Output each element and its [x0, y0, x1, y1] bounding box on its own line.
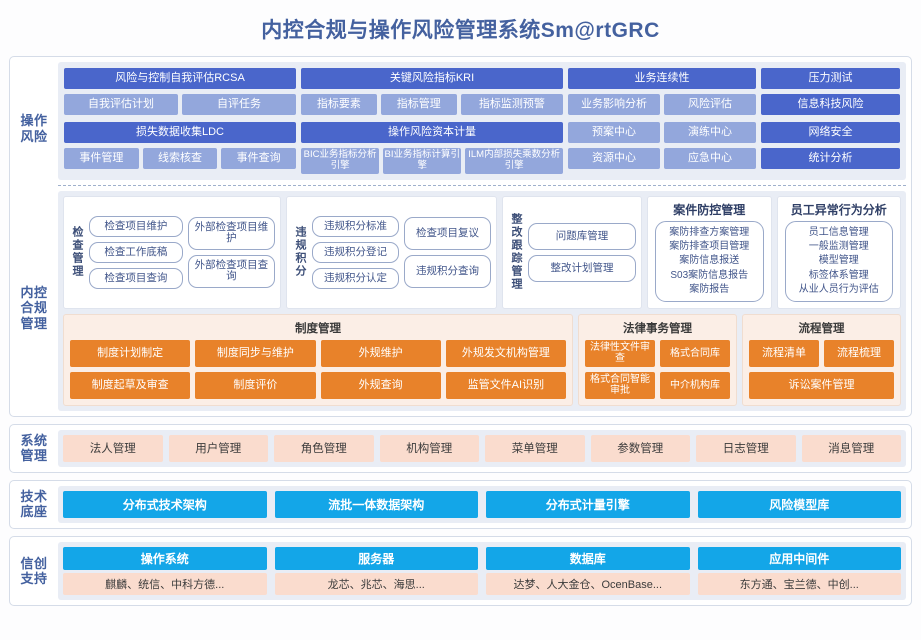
btn-parameter-management[interactable]: 参数管理: [591, 435, 691, 462]
panel-legal-affairs: 法律事务管理 法律性文件审查 格式合同库 格式合同智能审批 中介机构库: [578, 314, 737, 406]
module-self-assessment-task[interactable]: 自评任务: [182, 94, 296, 115]
pill-inspection-item-query[interactable]: 检查项目查询: [89, 268, 183, 289]
module-drill-center[interactable]: 演练中心: [664, 122, 756, 143]
module-ilm-engine[interactable]: ILM内部损失乘数分析引擎: [465, 148, 563, 174]
label-middleware-vendors: 东方通、宝兰德、中创...: [698, 573, 902, 595]
label-line-2: 底座: [20, 504, 47, 519]
btn-user-management[interactable]: 用户管理: [169, 435, 269, 462]
module-op-risk-capital[interactable]: 操作风险资本计量: [301, 122, 563, 143]
panel-vertical-label: 违规积分: [292, 202, 307, 303]
label-line-2: 风险: [20, 129, 47, 144]
btn-policy-evaluation[interactable]: 制度评价: [195, 372, 315, 399]
btn-litigation-case-management[interactable]: 诉讼案件管理: [749, 372, 894, 399]
pill-external-inspection-maintenance[interactable]: 外部检查项目维护: [188, 217, 275, 250]
xinchuang-column-middleware: 应用中间件 东方通、宝兰德、中创...: [698, 547, 902, 595]
module-stress-test[interactable]: 压力测试: [761, 68, 900, 89]
pill-rectification-plan-management[interactable]: 整改计划管理: [528, 255, 636, 282]
band-label-xinchuang: 信创 支持: [10, 537, 58, 605]
module-rcsa[interactable]: 风险与控制自我评估RCSA: [64, 68, 296, 89]
label-line-1: 信创: [20, 556, 47, 571]
band-label-column: 操作 风险 内控 合规 管理: [10, 57, 58, 416]
pill-violation-point-standard[interactable]: 违规积分标准: [312, 216, 399, 237]
band-body: 法人管理 用户管理 角色管理 机构管理 菜单管理 参数管理 日志管理 消息管理: [58, 430, 906, 467]
label-database-vendors: 达梦、人大金仓、OcenBase...: [486, 573, 690, 595]
band-label-internal-control: 内控 合规 管理: [10, 200, 58, 416]
or-column-1: 风险与控制自我评估RCSA 自我评估计划 自评任务 损失数据收集LDC 事件管理…: [64, 68, 296, 174]
btn-log-management[interactable]: 日志管理: [696, 435, 796, 462]
label-line-3: 管理: [20, 316, 47, 331]
btn-process-list[interactable]: 流程清单: [749, 340, 819, 367]
module-statistical-analysis[interactable]: 统计分析: [761, 148, 900, 169]
band-body: 操作系统 麒麟、统信、中科方德... 服务器 龙芯、兆芯、海思... 数据库 达…: [58, 542, 906, 600]
btn-policy-plan-formulation[interactable]: 制度计划制定: [70, 340, 190, 367]
panel-institution-management: 制度管理 制度计划制定 制度同步与维护 外规维护 外规发文机构管理 制度起草及审…: [63, 314, 573, 406]
section-divider: [58, 185, 906, 186]
list-item[interactable]: 员工信息管理: [792, 226, 887, 240]
band-body: 分布式技术架构 流批一体数据架构 分布式计量引擎 风险模型库: [58, 486, 906, 523]
band-body: 风险与控制自我评估RCSA 自我评估计划 自评任务 损失数据收集LDC 事件管理…: [58, 57, 911, 416]
btn-standard-contract-ai-approval[interactable]: 格式合同智能审批: [585, 372, 655, 399]
module-it-risk[interactable]: 信息科技风险: [761, 94, 900, 115]
btn-external-issuing-org-management[interactable]: 外规发文机构管理: [446, 340, 566, 367]
btn-operating-system[interactable]: 操作系统: [63, 547, 267, 570]
list-item[interactable]: 一般监测管理: [792, 240, 887, 254]
pill-inspection-item-review[interactable]: 检查项目复议: [404, 217, 491, 250]
pill-violation-point-registration[interactable]: 违规积分登记: [312, 242, 399, 263]
list-item[interactable]: 案防信息报送: [662, 254, 757, 268]
module-resource-center[interactable]: 资源中心: [568, 148, 660, 169]
panel-inspection-management: 检查管理 检查项目维护 检查工作底稿 检查项目查询 外部检查项目维护 外部检查项…: [63, 196, 281, 309]
pill-inspection-working-paper[interactable]: 检查工作底稿: [89, 242, 183, 263]
or-column-3: 业务连续性 业务影响分析 风险评估 预案中心 演练中心 资源中心 应急中心: [568, 68, 756, 174]
btn-standard-contract-library[interactable]: 格式合同库: [660, 340, 730, 367]
btn-intermediary-org-library[interactable]: 中介机构库: [660, 372, 730, 399]
panel-title: 员工异常行为分析: [778, 197, 901, 221]
module-plan-center[interactable]: 预案中心: [568, 122, 660, 143]
btn-message-management[interactable]: 消息管理: [802, 435, 902, 462]
btn-stream-batch-data-architecture[interactable]: 流批一体数据架构: [275, 491, 479, 518]
btn-risk-model-library[interactable]: 风险模型库: [698, 491, 902, 518]
label-line-2: 管理: [20, 448, 47, 463]
list-item[interactable]: 标签体系管理: [792, 269, 887, 283]
panel-rectification-tracking: 整改跟踪管理 问题库管理 整改计划管理: [502, 196, 642, 309]
panel-vertical-label: 整改跟踪管理: [508, 202, 523, 303]
btn-external-rule-maintenance[interactable]: 外规维护: [321, 340, 441, 367]
pill-external-inspection-query[interactable]: 外部检查项目查询: [188, 255, 275, 288]
list-item[interactable]: S03案防信息报告: [662, 269, 757, 283]
label-line-1: 系统: [20, 433, 47, 448]
or-column-4: 压力测试 信息科技风险 网络安全 统计分析: [761, 68, 900, 174]
list-staff-items[interactable]: 员工信息管理 一般监测管理 模型管理 标签体系管理 从业人员行为评估: [785, 221, 894, 302]
btn-menu-management[interactable]: 菜单管理: [485, 435, 585, 462]
label-line-1: 内控: [20, 285, 47, 300]
btn-policy-drafting-review[interactable]: 制度起草及审查: [70, 372, 190, 399]
btn-org-management[interactable]: 机构管理: [380, 435, 480, 462]
list-item[interactable]: 案防排查方案管理: [662, 226, 757, 240]
module-kri[interactable]: 关键风险指标KRI: [301, 68, 563, 89]
list-item[interactable]: 案防排查项目管理: [662, 240, 757, 254]
module-event-management[interactable]: 事件管理: [64, 148, 139, 169]
module-bi-engine[interactable]: BI业务指标计算引擎: [383, 148, 461, 174]
panel-title: 流程管理: [749, 319, 894, 340]
pill-inspection-item-maintenance[interactable]: 检查项目维护: [89, 216, 183, 237]
module-network-security[interactable]: 网络安全: [761, 122, 900, 143]
xinchuang-column-server: 服务器 龙芯、兆芯、海思...: [275, 547, 479, 595]
btn-database[interactable]: 数据库: [486, 547, 690, 570]
panel-process-management: 流程管理 流程清单 流程梳理 诉讼案件管理: [742, 314, 901, 406]
module-bic-engine[interactable]: BIC业务指标分析引擎: [301, 148, 379, 174]
list-item[interactable]: 模型管理: [792, 254, 887, 268]
module-business-continuity[interactable]: 业务连续性: [568, 68, 756, 89]
module-indicator-monitoring-alert[interactable]: 指标监测预警: [461, 94, 563, 115]
module-self-assessment-plan[interactable]: 自我评估计划: [64, 94, 178, 115]
page-root: 内控合规与操作风险管理系统Sm@rtGRC 操作 风险 内控 合规 管理: [0, 0, 921, 640]
btn-distributed-tech-architecture[interactable]: 分布式技术架构: [63, 491, 267, 518]
module-emergency-center[interactable]: 应急中心: [664, 148, 756, 169]
band-label-system-management: 系统 管理: [10, 425, 58, 472]
page-title: 内控合规与操作风险管理系统Sm@rtGRC: [0, 0, 921, 56]
tech-base-band: 技术 底座 分布式技术架构 流批一体数据架构 分布式计量引擎 风险模型库: [9, 480, 912, 529]
xinchuang-column-os: 操作系统 麒麟、统信、中科方德...: [63, 547, 267, 595]
list-case-prevention-items[interactable]: 案防排查方案管理 案防排查项目管理 案防信息报送 S03案防信息报告 案防报告: [655, 221, 764, 302]
btn-legal-entity-management[interactable]: 法人管理: [63, 435, 163, 462]
pill-issue-library-management[interactable]: 问题库管理: [528, 223, 636, 250]
label-server-vendors: 龙芯、兆芯、海思...: [275, 573, 479, 595]
btn-process-mapping[interactable]: 流程梳理: [824, 340, 894, 367]
label-os-vendors: 麒麟、统信、中科方德...: [63, 573, 267, 595]
xinchuang-support-band: 信创 支持 操作系统 麒麟、统信、中科方德... 服务器 龙芯、兆芯、海思...…: [9, 536, 912, 606]
btn-regulatory-doc-ai-recognition[interactable]: 监管文件AI识别: [446, 372, 566, 399]
module-ldc[interactable]: 损失数据收集LDC: [64, 122, 296, 143]
btn-legal-doc-review[interactable]: 法律性文件审查: [585, 340, 655, 367]
btn-distributed-measurement-engine[interactable]: 分布式计量引擎: [486, 491, 690, 518]
or-column-2: 关键风险指标KRI 指标要素 指标管理 指标监测预警 操作风险资本计量 BIC业…: [301, 68, 563, 174]
pill-violation-point-confirmation[interactable]: 违规积分认定: [312, 268, 399, 289]
btn-external-rule-query[interactable]: 外规查询: [321, 372, 441, 399]
panel-case-prevention: 案件防控管理 案防排查方案管理 案防排查项目管理 案防信息报送 S03案防信息报…: [647, 196, 772, 309]
list-item[interactable]: 案防报告: [662, 283, 757, 297]
pill-violation-point-query[interactable]: 违规积分查询: [404, 255, 491, 288]
panel-violation-points: 违规积分 违规积分标准 违规积分登记 违规积分认定 检查项目复议 违规积分查询: [286, 196, 497, 309]
btn-server[interactable]: 服务器: [275, 547, 479, 570]
panel-title: 案件防控管理: [648, 197, 771, 221]
panel-staff-abnormal-behavior: 员工异常行为分析 员工信息管理 一般监测管理 模型管理 标签体系管理 从业人员行…: [777, 196, 902, 309]
operational-and-internal-control-band: 操作 风险 内控 合规 管理 风险与控制自我评估RCSA: [9, 56, 912, 417]
label-line-1: 操作: [20, 113, 47, 128]
label-line-2: 合规: [20, 300, 47, 315]
btn-application-middleware[interactable]: 应用中间件: [698, 547, 902, 570]
btn-policy-sync-maintenance[interactable]: 制度同步与维护: [195, 340, 315, 367]
label-line-2: 支持: [20, 571, 47, 586]
operational-risk-section: 风险与控制自我评估RCSA 自我评估计划 自评任务 损失数据收集LDC 事件管理…: [58, 62, 906, 180]
module-indicator-management[interactable]: 指标管理: [381, 94, 457, 115]
xinchuang-column-database: 数据库 达梦、人大金仓、OcenBase...: [486, 547, 690, 595]
system-management-band: 系统 管理 法人管理 用户管理 角色管理 机构管理 菜单管理 参数管理 日志管理…: [9, 424, 912, 473]
band-label-operational-risk: 操作 风险: [10, 57, 58, 200]
panel-title: 法律事务管理: [585, 319, 730, 340]
module-business-impact-analysis[interactable]: 业务影响分析: [568, 94, 660, 115]
panel-vertical-label: 检查管理: [69, 202, 84, 303]
label-line-1: 技术: [20, 489, 47, 504]
internal-control-section: 检查管理 检查项目维护 检查工作底稿 检查项目查询 外部检查项目维护 外部检查项…: [58, 191, 906, 411]
module-event-query[interactable]: 事件查询: [221, 148, 296, 169]
module-clue-verification[interactable]: 线索核查: [143, 148, 218, 169]
btn-role-management[interactable]: 角色管理: [274, 435, 374, 462]
module-indicator-elements[interactable]: 指标要素: [301, 94, 377, 115]
band-label-tech-base: 技术 底座: [10, 481, 58, 528]
list-item[interactable]: 从业人员行为评估: [792, 283, 887, 297]
module-risk-assessment[interactable]: 风险评估: [664, 94, 756, 115]
panel-title: 制度管理: [70, 319, 566, 340]
